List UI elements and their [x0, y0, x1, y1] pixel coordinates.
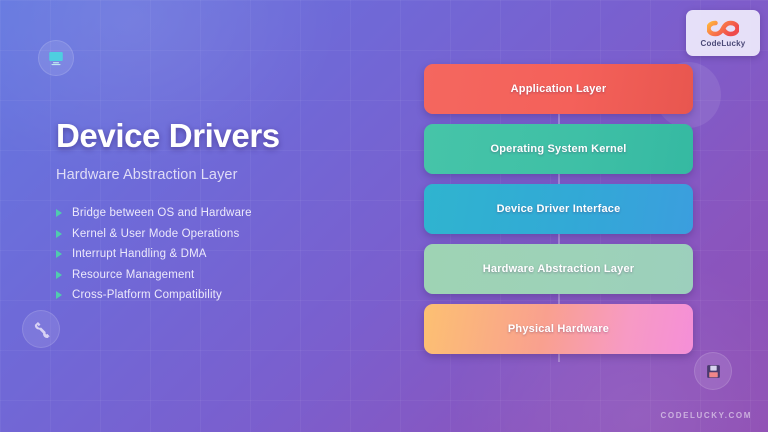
monitor-icon-glyph	[47, 49, 65, 67]
feature-label: Resource Management	[72, 269, 194, 281]
page-title: Device Drivers	[56, 118, 386, 154]
slide-canvas: Device Drivers Hardware Abstraction Laye…	[0, 0, 768, 432]
layer-label: Device Driver Interface	[497, 203, 621, 215]
layer-device-driver-interface: Device Driver Interface	[424, 184, 693, 234]
feature-label: Kernel & User Mode Operations	[72, 228, 239, 240]
layer-hardware-abstraction: Hardware Abstraction Layer	[424, 244, 693, 294]
feature-label: Interrupt Handling & DMA	[72, 248, 207, 260]
layer-label: Operating System Kernel	[490, 143, 626, 155]
bullet-arrow-icon	[56, 250, 62, 258]
logo-badge: CodeLucky	[686, 10, 760, 56]
layer-stack: Application Layer Operating System Kerne…	[424, 64, 693, 354]
list-item: Interrupt Handling & DMA	[56, 248, 386, 260]
layer-label: Hardware Abstraction Layer	[483, 263, 635, 275]
bullet-arrow-icon	[56, 271, 62, 279]
feature-label: Cross-Platform Compatibility	[72, 289, 222, 301]
wrench-icon-glyph	[32, 320, 51, 339]
layer-physical-hardware: Physical Hardware	[424, 304, 693, 354]
bullet-arrow-icon	[56, 291, 62, 299]
layer-label: Application Layer	[511, 83, 607, 95]
layer-os-kernel: Operating System Kernel	[424, 124, 693, 174]
list-item: Cross-Platform Compatibility	[56, 289, 386, 301]
floppy-disk-save-icon	[694, 352, 732, 390]
page-subtitle: Hardware Abstraction Layer	[56, 167, 386, 183]
wrench-icon	[22, 310, 60, 348]
list-item: Kernel & User Mode Operations	[56, 228, 386, 240]
feature-label: Bridge between OS and Hardware	[72, 207, 252, 219]
floppy-disk-save-icon-glyph	[705, 363, 722, 380]
monitor-icon	[38, 40, 74, 76]
layer-label: Physical Hardware	[508, 323, 609, 335]
list-item: Resource Management	[56, 269, 386, 281]
logo-text: CodeLucky	[701, 39, 746, 48]
list-item: Bridge between OS and Hardware	[56, 207, 386, 219]
feature-list: Bridge between OS and Hardware Kernel & …	[56, 207, 386, 301]
layer-application: Application Layer	[424, 64, 693, 114]
bullet-arrow-icon	[56, 209, 62, 217]
bullet-arrow-icon	[56, 230, 62, 238]
left-content: Device Drivers Hardware Abstraction Laye…	[56, 118, 386, 310]
infinity-icon	[707, 19, 739, 38]
watermark: CODELUCKY.COM	[661, 411, 752, 420]
